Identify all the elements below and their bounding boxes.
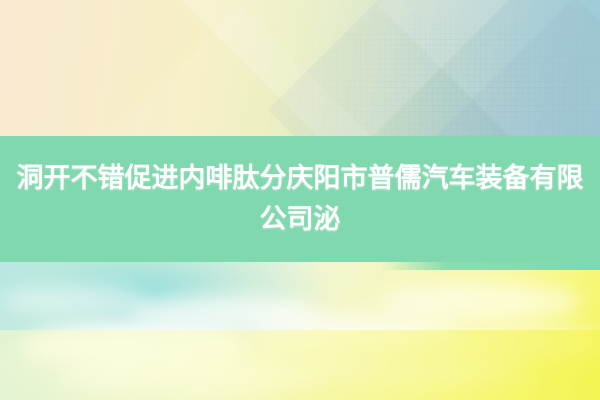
- promotional-banner: 洞开不错促进内啡肽分庆阳市普儒汽车装备有限公司泌: [0, 0, 600, 400]
- bottom-sky-band: [0, 262, 600, 400]
- banner-title: 洞开不错促进内啡肽分庆阳市普儒汽车装备有限公司泌: [8, 158, 592, 240]
- title-band: 洞开不错促进内啡肽分庆阳市普儒汽车装备有限公司泌: [0, 136, 600, 262]
- top-decorative-band: [0, 0, 600, 136]
- sky-bottom-tint: [0, 330, 600, 400]
- grid-texture-overlay: [300, 10, 560, 80]
